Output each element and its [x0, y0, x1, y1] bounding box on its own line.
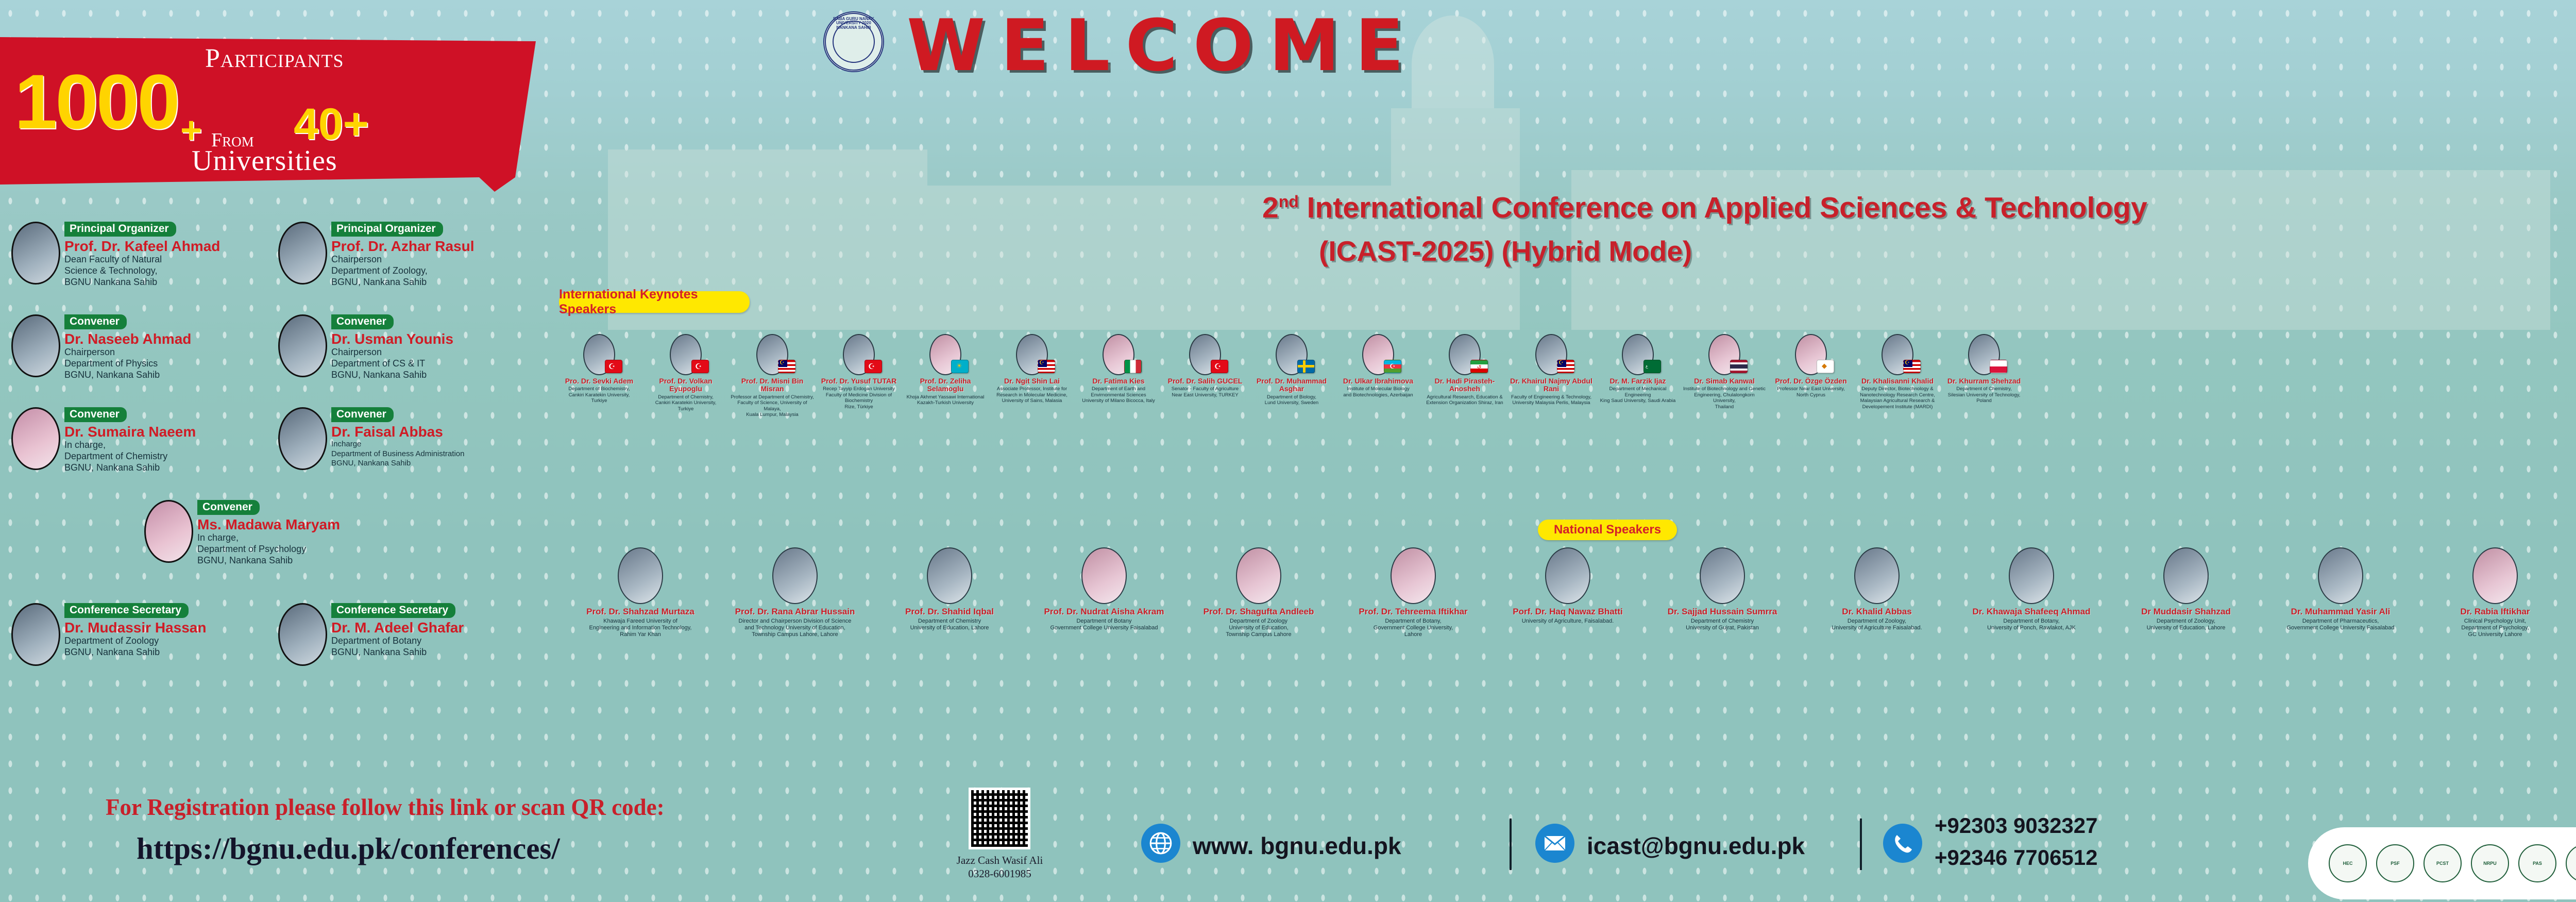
avatar: ◆ — [1795, 334, 1827, 375]
avatar — [1854, 547, 1900, 604]
organizer-role: Conference Secretary — [64, 603, 189, 618]
affiliation-line: Government College University, — [1340, 625, 1487, 631]
affiliation-line: Near East University, TURKEY — [1163, 392, 1247, 398]
organizer-line: Department of Physics — [64, 358, 191, 370]
affiliation-line: University of Education, Lahore — [2112, 625, 2260, 631]
affiliation-line: Faculty of Engineering & Technology, — [1510, 394, 1593, 400]
affiliation-line: University Malaysia Perlis, Malaysia — [1510, 400, 1593, 406]
avatar — [927, 547, 972, 604]
affiliation-line: North Cyprus — [1769, 392, 1853, 398]
organizer-line: Department of Zoology, — [331, 265, 474, 277]
avatar — [11, 222, 60, 285]
speaker-affiliation: Agricultural Research, Education &Extens… — [1423, 394, 1506, 406]
affiliation-line: Silesian University of Technology, Polan… — [1942, 392, 2026, 404]
flag-thailand-icon — [1730, 360, 1748, 373]
affiliation-line: Agricultural Research, Education & — [1423, 394, 1506, 400]
affiliation-line: Clinical Psychology Unit, — [2421, 618, 2569, 625]
flag-malaysia-icon: ☪ — [1903, 360, 1921, 373]
avatar: ☪ — [1535, 334, 1567, 375]
organizer-role: Conference Secretary — [331, 603, 455, 618]
qr-caption: Jazz Cash Wasif Ali 0328-6001985 — [944, 854, 1055, 881]
national-speaker-card: Dr. Muhammad Yasir Ali Department of Pha… — [2267, 547, 2414, 631]
national-speaker-card: Prof. Dr. Shagufta Andleeb Department of… — [1185, 547, 1332, 638]
national-speaker-card: Porf. Dr. Haq Nawaz Bhatti University of… — [1494, 547, 1641, 625]
affiliation-line: Cankiri Karatekin University, — [644, 400, 727, 406]
organizer-name: Dr. M. Adeel Ghafar — [331, 620, 464, 636]
affiliation-line: Institute of Biotechnology and Genetic — [1683, 386, 1766, 392]
flag-azerbaijan-icon: ☪ — [1384, 360, 1401, 373]
affiliation-line: Envirnonmental Sciences — [1077, 392, 1160, 398]
organizer-card: Principal Organizer Prof. Dr. Kafeel Ahm… — [11, 222, 220, 288]
international-speaker-card: ☪ Prof. Dr. Yusuf TUTAR Recep Tayyip Erd… — [817, 334, 901, 410]
organizer-line: Science & Technology, — [64, 265, 220, 277]
conference-subtitle: (ICAST-2025) (Hybrid Mode) — [1319, 235, 1692, 268]
avatar — [618, 547, 663, 604]
website-text[interactable]: www. bgnu.edu.pk — [1193, 832, 1401, 860]
international-speaker-card: Dr. Fatima Kies Department of Earth andE… — [1077, 334, 1160, 404]
speaker-name: Pro. Dr. Sevki Adem — [557, 377, 641, 385]
divider — [1510, 819, 1512, 870]
organizer-name: Dr. Sumaira Naeem — [64, 424, 196, 440]
national-speaker-card: Prof. Dr. Shahid Iqbal Department of Che… — [876, 547, 1023, 631]
welcome-heading: WELCOME — [907, 4, 1419, 87]
speaker-name: Prof. Dr. Shahid Iqbal — [876, 607, 1023, 617]
flag-saudi-icon: ع — [1643, 360, 1661, 373]
affiliation-line: GC University Lahore — [2421, 631, 2569, 638]
avatar — [278, 222, 327, 285]
flag-sweden-icon — [1297, 360, 1315, 373]
affiliation-line: Professor Near East University, — [1769, 386, 1853, 392]
affiliation-line: Developement Institute (MARDI) — [1856, 404, 1939, 410]
speaker-affiliation: Department of Botany,University of Ponch… — [1958, 618, 2105, 631]
affiliation-line: and Technology University of Education, — [721, 625, 869, 631]
organizer-line: Department of Psychology — [197, 544, 340, 555]
organizer-line: Chairperson — [64, 347, 191, 358]
organizer-role: Principal Organizer — [64, 222, 176, 237]
avatar — [2472, 547, 2518, 604]
avatar — [278, 314, 327, 377]
speaker-affiliation: Clinical Psychology Unit,Department of P… — [2421, 618, 2569, 639]
flag-italy-icon — [1124, 360, 1142, 373]
avatar — [1968, 334, 2000, 375]
international-speaker-card: ☪ Pro. Dr. Sevki Adem Department of Bioc… — [557, 334, 641, 404]
participants-label: Participants — [205, 43, 344, 74]
organizer-name: Dr. Naseeb Ahmad — [64, 331, 191, 347]
speaker-affiliation: Khawaja Fareed University ofEngineering … — [567, 618, 714, 639]
speaker-name: Prof. Dr. Shahzad Murtaza — [567, 607, 714, 617]
organizer-card: Convener Ms. Madawa Maryam In charge, De… — [144, 500, 340, 566]
title-ordinal-suffix: nd — [1279, 192, 1299, 211]
organizer-line: BGNU, Nankana Sahib — [64, 370, 191, 381]
divider — [1860, 819, 1862, 870]
speaker-affiliation: Department of Earth andEnvirnonmental Sc… — [1077, 386, 1160, 404]
organizer-role: Convener — [197, 500, 260, 515]
speaker-name: Prof. Dr. Rana Abrar Hussain — [721, 607, 869, 617]
affiliation-line: Department of Chemistry — [1649, 618, 1796, 625]
national-speaker-card: Dr. Khalid Abbas Department of Zoology,U… — [1803, 547, 1951, 631]
avatar: ☪ — [1189, 334, 1221, 375]
organizer-name: Dr. Usman Younis — [331, 331, 453, 347]
national-speaker-card: Prof. Dr. Rana Abrar Hussain Director an… — [721, 547, 869, 638]
affiliation-line: Township Campus Lahore — [1185, 631, 1332, 638]
organizer-role: Convener — [64, 407, 127, 422]
organizer-line: BGNU, Nankana Sahib — [64, 462, 196, 474]
speaker-name: Prof. Dr. Salih GUCEL — [1163, 377, 1247, 385]
international-speaker-card: Dr. Simab Kanwal Institute of Biotechnol… — [1683, 334, 1766, 410]
affiliation-line: Faculty of Science, University of Malaya… — [731, 400, 814, 412]
organizer-card: Principal Organizer Prof. Dr. Azhar Rasu… — [278, 222, 474, 288]
avatar: ع — [1622, 334, 1654, 375]
organizer-line: BGNU, Nankana Sahib — [64, 647, 206, 658]
affiliation-line: Department of Botany, — [1340, 618, 1487, 625]
partner-logos-strip: HEC PSF PCST NRPU PAS BGNU RIC OG NUST S… — [2308, 827, 2576, 899]
affiliation-line: Lund University, Sweden — [1250, 400, 1333, 406]
speaker-affiliation: Department of Biochemistry,Cankiri Karat… — [557, 386, 641, 404]
affiliation-line: Turkiye — [557, 398, 641, 404]
flag-turkiye-icon: ☪ — [865, 360, 882, 373]
speaker-name: Prof. Dr. Nudrat Aisha Akram — [1030, 607, 1178, 617]
avatar: ی — [1449, 334, 1481, 375]
flag-turkiye-icon: ☪ — [605, 360, 622, 373]
speaker-affiliation: Department of Mechanical EngineeringKing… — [1596, 386, 1680, 404]
universities-label: Universities — [192, 144, 337, 177]
speaker-affiliation: Department of BotanyGovernment College U… — [1030, 618, 1178, 631]
speaker-name: Dr. Khairul Najmy Abdul Rani — [1510, 377, 1593, 393]
organizer-line: Department of Zoology — [64, 636, 206, 647]
speaker-name: Dr. Khurram Shehzad — [1942, 377, 2026, 385]
international-speaker-card: Dr. Khurram Shehzad Department of Chemis… — [1942, 334, 2026, 404]
affiliation-line: Lahore — [1340, 631, 1487, 638]
national-speaker-card: Dr Muddasir Shahzad Department of Zoolog… — [2112, 547, 2260, 631]
avatar — [144, 500, 193, 563]
national-speaker-card: Dr. Khawaja Shafeeq Ahmad Department of … — [1958, 547, 2105, 631]
avatar: ☪ — [670, 334, 702, 375]
speaker-affiliation: Department of ChemistryUniversity of Guj… — [1649, 618, 1796, 631]
speaker-name: Prof. Dr. Zeliha Selamoglu — [904, 377, 987, 393]
organizer-line: BGNU, Nankana Sahib — [197, 555, 340, 566]
flag-cyprus-icon: ◆ — [1817, 360, 1834, 373]
international-speaker-card: ☪ Dr. Ngit Shin Lai Associate Professor,… — [990, 334, 1074, 404]
speaker-name: Dr. Rabia Iftikhar — [2421, 607, 2569, 617]
affiliation-line: Recep Tayyip Erdogan University — [817, 386, 901, 392]
flag-malaysia-icon: ☪ — [1557, 360, 1574, 373]
speaker-affiliation: Associate Professor, Institute forResear… — [990, 386, 1074, 404]
speaker-affiliation: Department of Chemistry,Cankiri Karateki… — [644, 394, 727, 412]
speaker-affiliation: Institute of Biotechnology and GeneticEn… — [1683, 386, 1766, 410]
national-speaker-card: Prof. Dr. Nudrat Aisha Akram Department … — [1030, 547, 1178, 631]
flag-malaysia-icon: ☪ — [1038, 360, 1055, 373]
organizer-line: In charge, — [64, 440, 196, 451]
flag-poland-icon — [1990, 360, 2007, 373]
organizer-line: Department of Botany — [331, 636, 464, 647]
partner-logo-4-icon: PAS — [2518, 844, 2556, 882]
affiliation-line: Nanotechnology Research Centre, — [1856, 392, 1939, 398]
avatar — [11, 314, 60, 377]
speaker-name: Dr. Khawaja Shafeeq Ahmad — [1958, 607, 2105, 617]
affiliation-line: Rize, Türkiye — [817, 404, 901, 410]
avatar — [11, 603, 60, 666]
university-seal-icon: BABA GURU NANAK UNIVERSITY 2020 NANKANA … — [823, 11, 884, 72]
seal-text: BABA GURU NANAK UNIVERSITY 2020 NANKANA … — [826, 14, 882, 70]
affiliation-line: Rahim Yar Khan — [567, 631, 714, 638]
registration-url-link[interactable]: https://bgnu.edu.pk/conferences/ — [137, 831, 560, 866]
avatar — [1103, 334, 1134, 375]
speaker-name: Prof. Dr. Özge Özden — [1769, 377, 1853, 385]
avatar — [1545, 547, 1590, 604]
affiliation-line: Department of Pharmaceutics, — [2267, 618, 2414, 625]
affiliation-line: University of Education, — [1185, 625, 1332, 631]
organizer-name: Ms. Madawa Maryam — [197, 516, 340, 532]
affiliation-line: University of Milano Bicocca, Italy — [1077, 398, 1160, 404]
participants-count: 1000 — [14, 63, 178, 140]
speaker-affiliation: Professor Near East University,North Cyp… — [1769, 386, 1853, 398]
international-speakers-label: International Keynotes Speakers — [559, 291, 750, 313]
avatar — [1700, 547, 1745, 604]
international-speaker-card: ع Dr. M. Farzik Ijaz Department of Mecha… — [1596, 334, 1680, 404]
speaker-name: Dr. Muhammad Yasir Ali — [2267, 607, 2414, 617]
affiliation-line: Institute of Molecular Biology — [1336, 386, 1420, 392]
affiliation-line: Department of Botany, — [1958, 618, 2105, 625]
organizer-role: Convener — [331, 314, 394, 329]
speaker-affiliation: Institute of Molecular Biologyand Biotec… — [1336, 386, 1420, 398]
organizer-name: Dr. Faisal Abbas — [331, 424, 464, 440]
avatar — [278, 407, 327, 470]
speaker-affiliation: Professor at Department of Chemistry,Fac… — [731, 394, 814, 418]
speaker-name: Dr. Ngit Shin Lai — [990, 377, 1074, 385]
organizer-card: Convener Dr. Sumaira Naeem In charge, De… — [11, 407, 196, 474]
partner-logo-5-icon: BGNU — [2566, 844, 2576, 882]
organizer-line: Department of Business Administration — [331, 449, 464, 459]
avatar — [1276, 334, 1308, 375]
partner-logo-3-icon: NRPU — [2471, 844, 2509, 882]
organizer-role: Principal Organizer — [331, 222, 443, 237]
phone-icon — [1883, 824, 1922, 863]
speaker-affiliation: Khoja Akhmet Yassawi InternationalKazakh… — [904, 394, 987, 406]
affiliation-line: Department of Chemistry — [876, 618, 1023, 625]
organizer-line: Department of CS & IT — [331, 358, 453, 370]
organizer-line: BGNU Nankana Sahib — [64, 277, 220, 288]
speaker-affiliation: Deputy Director, Biotechnology &Nanotech… — [1856, 386, 1939, 410]
organizer-card: Convener Dr. Usman Younis Chairperson De… — [278, 314, 453, 381]
affiliation-line: Research in Molecular Medicine, — [990, 392, 1074, 398]
phone-number-1: +92303 9032327 — [1935, 813, 2098, 838]
qr-caption-number: 0328-6001985 — [944, 867, 1055, 880]
speaker-affiliation: Director and Chairperson Division of Sci… — [721, 618, 869, 639]
affiliation-line: Department of Biochemistry, — [557, 386, 641, 392]
affiliation-line: Senator - Faculty of Agriculture — [1163, 386, 1247, 392]
affiliation-line: Department of Zoology, — [2112, 618, 2260, 625]
speaker-affiliation: Department of Botany,Government College … — [1340, 618, 1487, 639]
speaker-affiliation: Department of Zoology,University of Educ… — [2112, 618, 2260, 631]
affiliation-line: University of Education, Lahore — [876, 625, 1023, 631]
avatar — [1708, 334, 1740, 375]
avatar — [278, 603, 327, 666]
affiliation-line: Department of Botany — [1030, 618, 1178, 625]
affiliation-line: Khoja Akhmet Yassawi International — [904, 394, 987, 400]
organizer-role: Convener — [331, 407, 394, 422]
organizer-name: Prof. Dr. Azhar Rasul — [331, 238, 474, 254]
globe-icon — [1141, 824, 1180, 863]
speaker-name: Porf. Dr. Haq Nawaz Bhatti — [1494, 607, 1641, 617]
affiliation-line: Associate Professor, Institute for — [990, 386, 1074, 392]
affiliation-line: Kazakh-Turkish University — [904, 400, 987, 406]
speaker-name: Dr. Simab Kanwal — [1683, 377, 1766, 385]
organizer-name: Prof. Dr. Kafeel Ahmad — [64, 238, 220, 254]
affiliation-line: Engineering, Chulalongkorn University, — [1683, 392, 1766, 404]
speaker-name: Dr. Khalisanni Khalid — [1856, 377, 1939, 385]
speaker-affiliation: University of Agriculture, Faisalabad. — [1494, 618, 1641, 625]
participants-banner: 1000 + Participants From 40+ Universitie… — [0, 37, 536, 192]
national-speakers-label: National Speakers — [1538, 520, 1677, 540]
affiliation-line: Department of Zoology — [1185, 618, 1332, 625]
avatar — [1081, 547, 1127, 604]
international-speaker-card: ☀ Prof. Dr. Zeliha Selamoglu Khoja Akhme… — [904, 334, 987, 406]
international-speaker-card: ☪ Prof. Dr. Volkan Eyupoglu Department o… — [644, 334, 727, 412]
flag-turkiye-icon: ☪ — [1211, 360, 1228, 373]
speaker-name: Prof. Dr. Volkan Eyupoglu — [644, 377, 727, 393]
speaker-name: Dr. M. Farzik Ijaz — [1596, 377, 1680, 385]
avatar — [2009, 547, 2054, 604]
avatar — [1236, 547, 1281, 604]
speaker-affiliation: Faculty of Engineering & Technology,Univ… — [1510, 394, 1593, 406]
affiliation-line: King Saud University, Saudi Arabia — [1596, 398, 1680, 404]
qr-code[interactable] — [969, 788, 1030, 849]
flag-kazakhstan-icon: ☀ — [951, 360, 969, 373]
speaker-name: Dr. Khalid Abbas — [1803, 607, 1951, 617]
affiliation-line: Department of Chemistry, — [644, 394, 727, 400]
speaker-affiliation: Department of Pharmaceutics,Government C… — [2267, 618, 2414, 631]
affiliation-line: Malaysian Agricultural Research & — [1856, 398, 1939, 404]
speaker-affiliation: Department of ChemistryUniversity of Edu… — [876, 618, 1023, 631]
national-speaker-card: Prof. Dr. Shahzad Murtaza Khawaja Fareed… — [567, 547, 714, 638]
affiliation-line: Professor at Department of Chemistry, — [731, 394, 814, 400]
international-speaker-card: ☪ Dr. Ulkar Ibrahimova Institute of Mole… — [1336, 334, 1420, 398]
speaker-name: Prof. Dr. Yusuf TUTAR — [817, 377, 901, 385]
organizer-line: BGNU, Nankana Sahib — [331, 277, 474, 288]
affiliation-line: Turkiye — [644, 406, 727, 412]
partner-logo-hec-icon: HEC — [2329, 844, 2367, 882]
flag-turkiye-icon: ☪ — [691, 360, 709, 373]
international-speaker-card: ☪ Dr. Khairul Najmy Abdul Rani Faculty o… — [1510, 334, 1593, 406]
partner-logo-1-icon: PSF — [2376, 844, 2414, 882]
international-speaker-card: ☪ Prof. Dr. Salih GUCEL Senator - Facult… — [1163, 334, 1247, 398]
affiliation-line: University of Sains, Malasia — [990, 398, 1074, 404]
avatar: ☪ — [1882, 334, 1913, 375]
avatar: ☪ — [843, 334, 875, 375]
phone-number-2: +92346 7706512 — [1935, 845, 2098, 870]
organizer-line: BGNU, Nankana Sahib — [331, 647, 464, 658]
flag-iran-icon: ی — [1470, 360, 1488, 373]
organizer-line: BGNU, Nankana Sahib — [331, 459, 464, 468]
organizer-line: Department of Chemistry — [64, 451, 196, 462]
organizer-line: BGNU, Nankana Sahib — [331, 370, 453, 381]
avatar — [772, 547, 818, 604]
speaker-name: Dr. Sajjad Hussain Sumrra — [1649, 607, 1796, 617]
partner-logo-2-icon: PCST — [2424, 844, 2462, 882]
organizer-card: Convener Dr. Faisal Abbas Incharge Depar… — [278, 407, 464, 470]
title-rest: International Conference on Applied Scie… — [1299, 191, 2147, 224]
international-speaker-card: ی Dr. Hadi Pirasteh-Anosheh Agricultural… — [1423, 334, 1506, 406]
affiliation-line: University of Agriculture Faisalabad. — [1803, 625, 1951, 631]
affiliation-line: University of Gujrat, Pakistan — [1649, 625, 1796, 631]
affiliation-line: Director and Chairperson Division of Sci… — [721, 618, 869, 625]
affiliation-line: University of Agriculture, Faisalabad. — [1494, 618, 1641, 625]
affiliation-line: Department of Psychology, — [2421, 625, 2569, 631]
speaker-name: Dr. Fatima Kies — [1077, 377, 1160, 385]
affiliation-line: and Biotechnologies, Azerbaijan — [1336, 392, 1420, 398]
organizer-line: Chairperson — [331, 347, 453, 358]
speaker-name: Prof. Dr. Muhammad Asghar — [1250, 377, 1333, 393]
avatar — [11, 407, 60, 470]
organizer-card: Conference Secretary Dr. Mudassir Hassan… — [11, 603, 206, 666]
qr-caption-name: Jazz Cash Wasif Ali — [944, 854, 1055, 867]
email-icon — [1535, 824, 1574, 863]
affiliation-line: Township Campus Lahore, Lahore — [721, 631, 869, 638]
speaker-affiliation: Department of Biology,Lund University, S… — [1250, 394, 1333, 406]
speaker-name: Prof. Dr. Shagufta Andleeb — [1185, 607, 1332, 617]
avatar: ☪ — [1362, 334, 1394, 375]
national-speaker-card: Prof. Dr. Tehreema Iftikhar Department o… — [1340, 547, 1487, 638]
affiliation-line: Government College University Faisalabad — [2267, 625, 2414, 631]
speaker-affiliation: Department of Chemistry,Silesian Univers… — [1942, 386, 2026, 404]
affiliation-line: Thailand — [1683, 404, 1766, 410]
speaker-affiliation: Department of ZoologyUniversity of Educa… — [1185, 618, 1332, 639]
avatar: ☀ — [929, 334, 961, 375]
national-speaker-card: Dr. Rabia Iftikhar Clinical Psychology U… — [2421, 547, 2569, 638]
speaker-name: Dr Muddasir Shahzad — [2112, 607, 2260, 617]
affiliation-line: Department of Zoology, — [1803, 618, 1951, 625]
speaker-name: Prof. Dr. Misni Bin Misran — [731, 377, 814, 393]
international-speaker-card: ☪ Prof. Dr. Misni Bin Misran Professor a… — [731, 334, 814, 417]
avatar — [2318, 547, 2363, 604]
speaker-affiliation: Recep Tayyip Erdogan UniversityFaculty o… — [817, 386, 901, 410]
affiliation-line: Department of Earth and — [1077, 386, 1160, 392]
speaker-affiliation: Senator - Faculty of AgricultureNear Eas… — [1163, 386, 1247, 398]
organizer-card: Convener Dr. Naseeb Ahmad Chairperson De… — [11, 314, 191, 381]
organizer-name: Dr. Mudassir Hassan — [64, 620, 206, 636]
affiliation-line: Deputy Director, Biotechnology & — [1856, 386, 1939, 392]
avatar — [1391, 547, 1436, 604]
email-text[interactable]: icast@bgnu.edu.pk — [1587, 832, 1805, 860]
affiliation-line: Khawaja Fareed University of — [567, 618, 714, 625]
speaker-affiliation: Department of Zoology,University of Agri… — [1803, 618, 1951, 631]
organizer-line: Chairperson — [331, 254, 474, 265]
affiliation-line: Department of Biology, — [1250, 394, 1333, 400]
registration-instruction: For Registration please follow this link… — [106, 794, 665, 821]
affiliation-line: Faculty of Medicine Division of Biochemi… — [817, 392, 901, 404]
international-speaker-card: ◆ Prof. Dr. Özge Özden Professor Near Ea… — [1769, 334, 1853, 398]
affiliation-line: Cankiri Karatekin University, — [557, 392, 641, 398]
international-speaker-card: Prof. Dr. Muhammad Asghar Department of … — [1250, 334, 1333, 406]
speaker-name: Dr. Hadi Pirasteh-Anosheh — [1423, 377, 1506, 393]
organizer-line: In charge, — [197, 532, 340, 544]
speaker-name: Dr. Ulkar Ibrahimova — [1336, 377, 1420, 385]
affiliation-line: Government College University Faisalabad — [1030, 625, 1178, 631]
conference-title: 2nd International Conference on Applied … — [1262, 191, 2147, 225]
organizer-line: Dean Faculty of Natural — [64, 254, 220, 265]
title-ordinal: 2 — [1262, 191, 1279, 224]
affiliation-line: Engineering and Information Technology, — [567, 625, 714, 631]
affiliation-line: University of Ponch, Rawlakot, AJK — [1958, 625, 2105, 631]
speaker-name: Prof. Dr. Tehreema Iftikhar — [1340, 607, 1487, 617]
affiliation-line: Department of Chemistry, — [1942, 386, 2026, 392]
affiliation-line: Department of Mechanical Engineering — [1596, 386, 1680, 398]
universities-count: 40+ — [294, 99, 369, 150]
organizer-card: Conference Secretary Dr. M. Adeel Ghafar… — [278, 603, 464, 666]
affiliation-line: Extension Organization Shiraz, Iran — [1423, 400, 1506, 406]
avatar — [2163, 547, 2209, 604]
organizers-panel: Principal Organizer Prof. Dr. Kafeel Ahm… — [0, 222, 546, 742]
